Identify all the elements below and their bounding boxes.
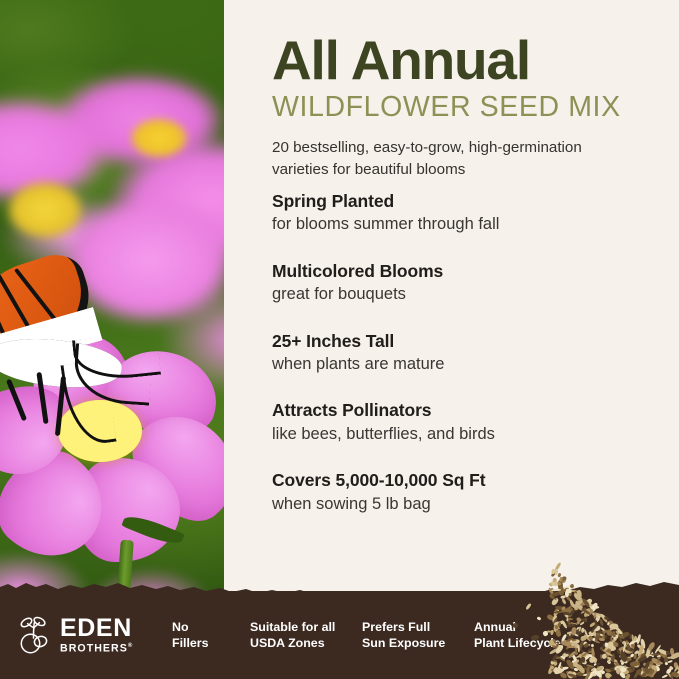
seed-fragment (662, 674, 668, 679)
eden-brothers-logo[interactable]: EDEN BROTHERS® (18, 616, 150, 654)
brand-name: EDEN (60, 616, 133, 641)
seed-fragment (667, 660, 673, 663)
stray-seed (512, 622, 519, 629)
seed-fragment (588, 651, 592, 653)
product-subhead: WILDFLOWER SEED MIX (272, 93, 672, 123)
feature-title: 25+ Inches Tall (272, 330, 672, 352)
product-description: 20 bestselling, easy-to-grow, high-germi… (272, 137, 632, 180)
seed-fragment (569, 583, 575, 589)
feature-item: Multicolored Blooms great for bouquets (272, 260, 672, 306)
seed-fragment (595, 641, 601, 644)
seed-fragment (617, 650, 620, 654)
seed-fragment (633, 654, 636, 659)
feature-title: Spring Planted (272, 190, 672, 212)
feature-subtitle: when sowing 5 lb bag (272, 494, 672, 515)
feature-list: Spring Planted for blooms summer through… (272, 190, 672, 515)
seed-fragment (551, 569, 555, 575)
blurred-flower-center-a (130, 118, 188, 158)
title-block: All Annual WILDFLOWER SEED MIX 20 bestse… (272, 32, 672, 180)
product-headline: All Annual (272, 32, 672, 88)
butterfly-leg (6, 379, 27, 422)
stray-seed (525, 603, 532, 610)
seed-fragment (567, 618, 572, 621)
registered-trademark-icon: ® (128, 643, 133, 649)
seed-sprout-icon (18, 616, 52, 654)
seed-fragment (599, 633, 603, 636)
seed-fragment (604, 672, 611, 679)
feature-title: Covers 5,000-10,000 Sq Ft (272, 469, 672, 491)
brand-subname: BROTHERS® (60, 643, 133, 654)
seed-fragment (555, 629, 562, 637)
monarch-butterfly (0, 268, 174, 418)
seed-fragment (558, 621, 562, 626)
seed-mix-pile (547, 561, 679, 679)
seed-fragment (590, 643, 594, 647)
seed-fragment (599, 638, 605, 642)
seed-fragment (658, 657, 661, 660)
feature-item: Attracts Pollinators like bees, butterfl… (272, 399, 672, 445)
blurred-flower-center-b (8, 182, 82, 238)
seed-fragment (562, 580, 566, 584)
feature-subtitle: when plants are mature (272, 354, 672, 375)
product-hero-card: All Annual WILDFLOWER SEED MIX 20 bestse… (0, 0, 679, 679)
feature-subtitle: for blooms summer through fall (272, 214, 672, 235)
seed-fragment (610, 637, 612, 642)
feature-item: Covers 5,000-10,000 Sq Ft when sowing 5 … (272, 469, 672, 515)
feature-subtitle: great for bouquets (272, 284, 672, 305)
claim-usda-zones: Suitable for all USDA Zones (250, 619, 362, 652)
brand-wordmark: EDEN BROTHERS® (60, 616, 133, 654)
seed-fragment (551, 629, 554, 634)
seed-fragment (666, 651, 670, 656)
feature-item: Spring Planted for blooms summer through… (272, 190, 672, 236)
feature-title: Multicolored Blooms (272, 260, 672, 282)
claim-sun-exposure: Prefers Full Sun Exposure (362, 619, 474, 652)
stray-seed (537, 616, 542, 621)
brand-footer: EDEN BROTHERS® No Fillers Suitable for a… (0, 591, 679, 679)
claim-no-fillers: No Fillers (172, 619, 250, 652)
seed-fragment (581, 628, 584, 634)
seed-fragment (554, 624, 558, 629)
feature-subtitle: like bees, butterflies, and birds (272, 424, 672, 445)
feature-item: 25+ Inches Tall when plants are mature (272, 330, 672, 376)
product-photo (0, 0, 224, 618)
feature-title: Attracts Pollinators (272, 399, 672, 421)
seed-fragment (561, 598, 567, 605)
product-info-panel: All Annual WILDFLOWER SEED MIX 20 bestse… (224, 0, 679, 618)
seed-fragment (554, 610, 562, 614)
